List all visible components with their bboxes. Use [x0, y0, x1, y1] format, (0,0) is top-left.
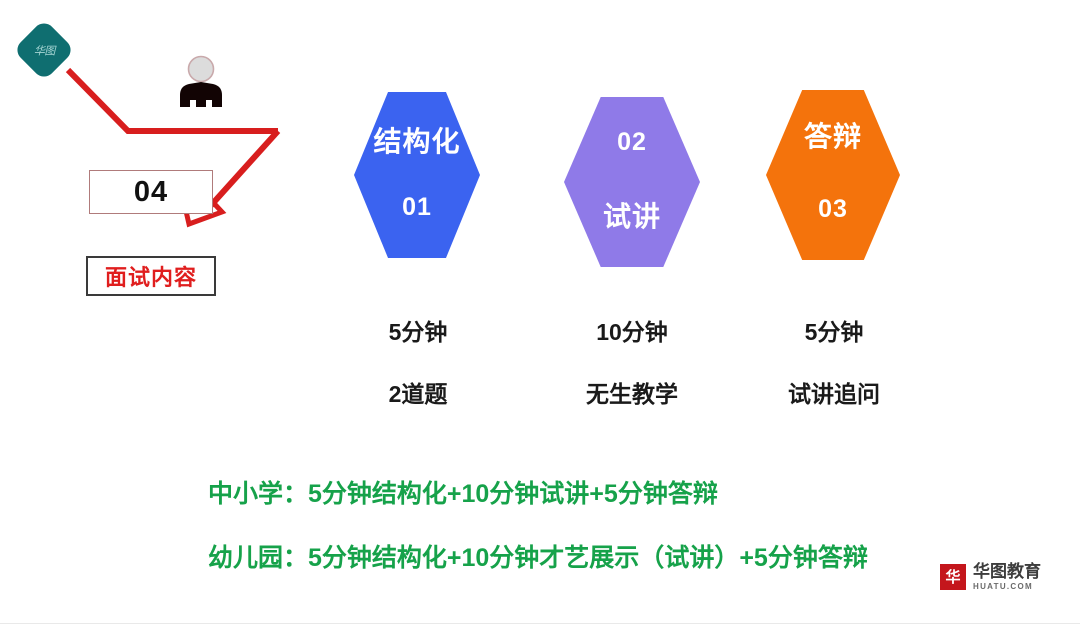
stage-2-number: 02 [564, 130, 700, 155]
huatu-logo-name-en: HUATU.COM [973, 583, 1041, 591]
section-title-text: 面试内容 [105, 260, 197, 292]
slide-canvas: 华图 04 面试内容 结构化 01 02 试讲 答辩 03 5分钟 2道题 [0, 0, 1080, 624]
stage-2-duration: 10分钟 [562, 313, 702, 347]
summary-line-secondary: 幼儿园：5分钟结构化+10分钟才艺展示（试讲）+5分钟答辩 [208, 538, 868, 574]
stage-hexagon-3: 答辩 03 [766, 90, 900, 260]
person-avatar-icon [172, 55, 230, 107]
signature-diamond-icon: 华图 [13, 19, 75, 81]
stage-hexagon-2: 02 试讲 [564, 97, 700, 267]
section-title-box: 面试内容 [86, 256, 216, 296]
stage-2-label: 试讲 [564, 203, 700, 231]
huatu-logo-mark-text: 华 [945, 570, 960, 585]
stage-1-label: 结构化 [354, 128, 480, 156]
stage-1-caption: 5分钟 2道题 [355, 313, 481, 409]
stage-3-caption: 5分钟 试讲追问 [766, 313, 902, 409]
signature-script-text: 华图 [34, 42, 55, 58]
stage-3-duration: 5分钟 [766, 313, 902, 347]
stage-2-caption: 10分钟 无生教学 [562, 313, 702, 409]
huatu-logo: 华 华图教育 HUATU.COM [940, 563, 1041, 591]
stage-3-number: 03 [766, 197, 900, 222]
summary-line-primary: 中小学：5分钟结构化+10分钟试讲+5分钟答辩 [208, 474, 718, 510]
person-avatar-svg [172, 55, 230, 107]
stage-2-detail: 无生教学 [562, 375, 702, 409]
stage-1-duration: 5分钟 [355, 313, 481, 347]
section-number-text: 04 [134, 176, 168, 209]
stage-1-number: 01 [354, 195, 480, 220]
stage-3-detail: 试讲追问 [766, 375, 902, 409]
stage-hexagon-1: 结构化 01 [354, 92, 480, 258]
huatu-logo-text: 华图教育 HUATU.COM [973, 563, 1041, 591]
section-number-box: 04 [89, 170, 213, 214]
huatu-logo-mark-icon: 华 [940, 564, 966, 590]
stage-1-detail: 2道题 [355, 375, 481, 409]
huatu-logo-name-cn: 华图教育 [973, 563, 1041, 580]
red-pointer-arrow [0, 0, 1080, 624]
stage-3-label: 答辩 [766, 123, 900, 151]
